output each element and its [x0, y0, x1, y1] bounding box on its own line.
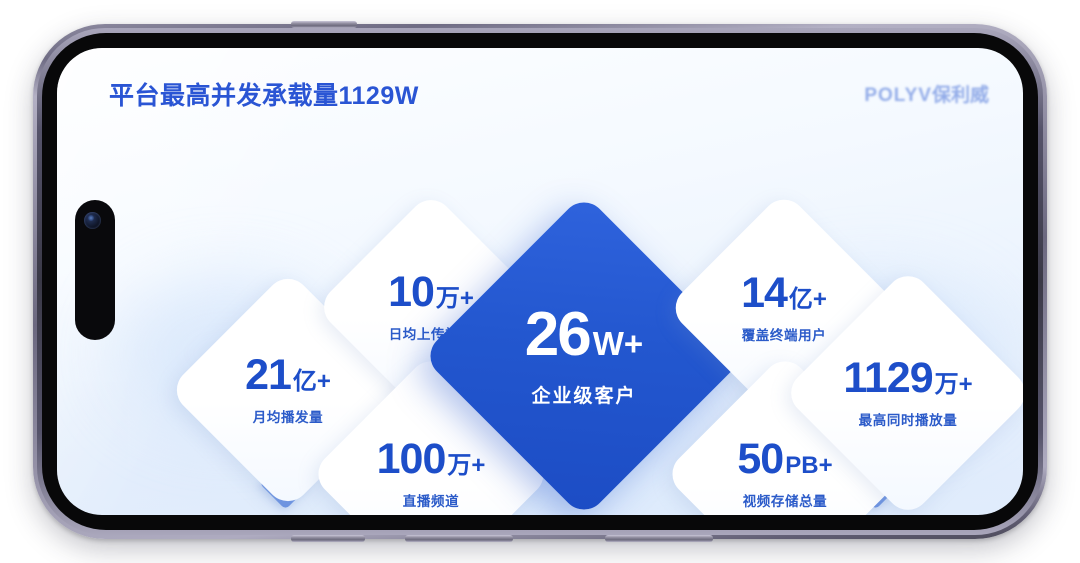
- stat-caption-left: 月均播发量: [203, 406, 373, 426]
- stat-unit-bottom-right: PB+: [785, 454, 832, 478]
- stat-unit-left: 亿+: [293, 370, 331, 394]
- stat-value-center: 26W+: [469, 304, 699, 366]
- stats-diamond-grid: 21亿+ 月均播发量 10万+ 日均上传视频: [57, 106, 1023, 506]
- stat-value-left: 21亿+: [203, 354, 373, 397]
- stat-caption-bottom-left: 直播频道: [345, 490, 517, 510]
- screenshot-stage: 平台最高并发承载量1129W POLYV保利威 21亿+ 月均播发量: [0, 0, 1080, 563]
- volume-down-button[interactable]: [405, 535, 513, 542]
- power-button[interactable]: [605, 535, 713, 542]
- phone-device-frame: 平台最高并发承载量1129W POLYV保利威 21亿+ 月均播发量: [33, 24, 1047, 539]
- stat-unit-bottom-left: 万+: [447, 454, 485, 478]
- stat-value-bottom-left: 100万+: [345, 438, 517, 481]
- stat-unit-top-right: 亿+: [789, 288, 827, 312]
- brand-logo-latin: POLYV: [864, 85, 932, 106]
- stat-number-top-right: 14: [741, 272, 787, 315]
- phone-screen: 平台最高并发承载量1129W POLYV保利威 21亿+ 月均播发量: [57, 48, 1023, 515]
- brand-logo-cn: 保利威: [932, 85, 989, 106]
- stat-value-top-right: 14亿+: [701, 272, 867, 315]
- front-camera-icon: [84, 212, 101, 229]
- stat-unit-center: W+: [593, 327, 643, 360]
- stat-caption-center: 企业级客户: [469, 381, 699, 408]
- stats-slide: 平台最高并发承载量1129W POLYV保利威 21亿+ 月均播发量: [57, 48, 1023, 515]
- stat-number-center: 26: [525, 304, 590, 366]
- volume-up-button[interactable]: [291, 535, 365, 542]
- dynamic-island: [75, 200, 115, 340]
- stat-number-bottom-right: 50: [737, 438, 783, 481]
- stat-caption-bottom-right: 视频存储总量: [699, 490, 871, 510]
- stat-value-right: 1129万+: [819, 357, 997, 400]
- stat-number-left: 21: [245, 354, 291, 397]
- stat-unit-right: 万+: [935, 373, 973, 397]
- stat-number-right: 1129: [843, 357, 932, 400]
- stat-number-bottom-left: 100: [377, 438, 446, 481]
- stat-number-top-left: 10: [388, 271, 434, 314]
- stat-caption-right: 最高同时播放量: [819, 409, 997, 429]
- brand-logo: POLYV保利威: [864, 80, 989, 107]
- action-button[interactable]: [291, 21, 357, 28]
